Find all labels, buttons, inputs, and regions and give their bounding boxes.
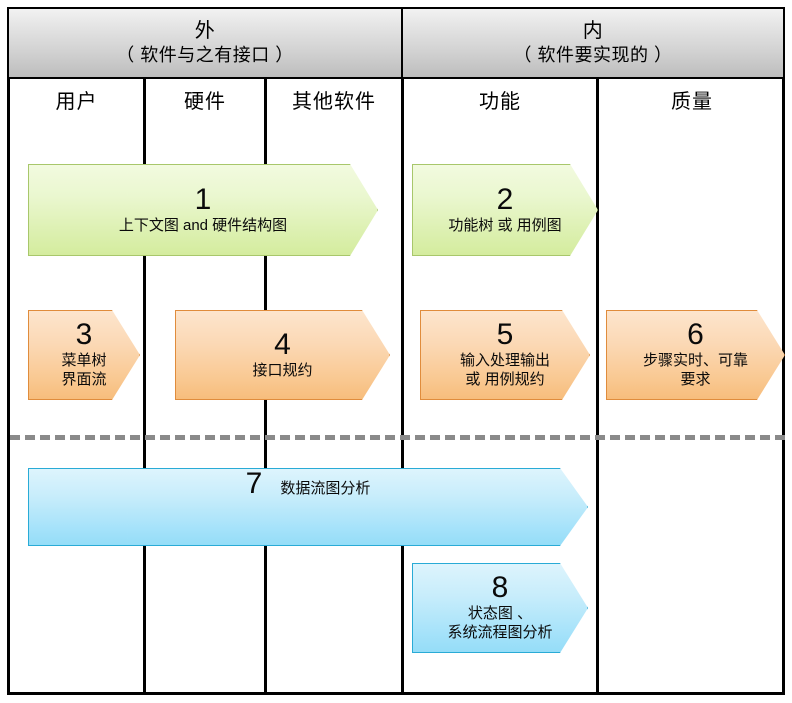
arrow-2-caption: 功能树 或 用例图	[448, 217, 561, 236]
arrow-1-number: 1	[195, 185, 212, 215]
header-band-inner: 内 （ 软件要实现的 ）	[401, 7, 785, 79]
arrow-8-caption: 状态图 、	[468, 605, 532, 624]
arrow-6-number: 6	[687, 320, 704, 350]
arrow-1-caption: 上下文图 and 硬件结构图	[119, 217, 287, 236]
arrow-3-caption2: 界面流	[61, 371, 106, 390]
arrow-4-caption: 接口规约	[252, 362, 312, 381]
arrow-5-number: 5	[497, 320, 514, 350]
column-divider-function-quality	[596, 79, 599, 695]
header-band-inner-subtitle: （ 软件要实现的 ）	[513, 44, 672, 67]
arrow-2-function-tree-or-use-case[interactable]: 2 功能树 或 用例图	[412, 164, 598, 256]
arrow-8-caption2: 系统流程图分析	[447, 624, 552, 643]
column-header-function: 功能	[404, 85, 596, 119]
column-header-quality: 质量	[599, 85, 785, 119]
header-band-outer-subtitle: （ 软件与之有接口 ）	[116, 44, 294, 67]
arrow-1-context-and-hardware-structure[interactable]: 1 上下文图 and 硬件结构图	[28, 164, 378, 256]
arrow-7-number: 7	[246, 469, 263, 499]
arrow-2-number: 2	[497, 185, 514, 215]
column-header-user: 用户	[10, 85, 143, 119]
column-header-hardware: 硬件	[146, 85, 264, 119]
arrow-6-caption: 步骤实时、可靠	[643, 352, 748, 371]
arrow-5-caption2: 或 用例规约	[465, 371, 544, 390]
arrow-3-number: 3	[76, 320, 93, 350]
arrow-6-realtime-reliability-requirements[interactable]: 6 步骤实时、可靠 要求	[606, 310, 785, 400]
column-divider-outer-inner	[401, 79, 404, 695]
header-band-outer-title: 外	[195, 19, 216, 45]
arrow-3-caption: 菜单树	[61, 352, 106, 371]
header-band-inner-title: 内	[583, 19, 604, 45]
header-band-outer: 外 （ 软件与之有接口 ）	[7, 7, 403, 79]
arrow-6-caption2: 要求	[680, 371, 710, 390]
static-dynamic-separator	[10, 435, 785, 440]
arrow-5-input-process-output-or-use-case-spec[interactable]: 5 输入处理输出 或 用例规约	[420, 310, 590, 400]
arrow-7-data-flow-diagram-analysis[interactable]: 7 数据流图分析	[28, 468, 588, 546]
arrow-7-caption: 数据流图分析	[280, 480, 370, 499]
arrow-8-state-diagram-system-flowchart-analysis[interactable]: 8 状态图 、 系统流程图分析	[412, 563, 588, 653]
arrow-4-number: 4	[274, 330, 291, 360]
column-header-other-software: 其他软件	[267, 85, 401, 119]
arrow-4-interface-specification[interactable]: 4 接口规约	[175, 310, 390, 400]
diagram-canvas: 外 （ 软件与之有接口 ） 内 （ 软件要实现的 ） 用户 硬件 其他软件 功能…	[0, 0, 792, 703]
arrow-5-caption: 输入处理输出	[460, 352, 550, 371]
arrow-8-number: 8	[492, 573, 509, 603]
